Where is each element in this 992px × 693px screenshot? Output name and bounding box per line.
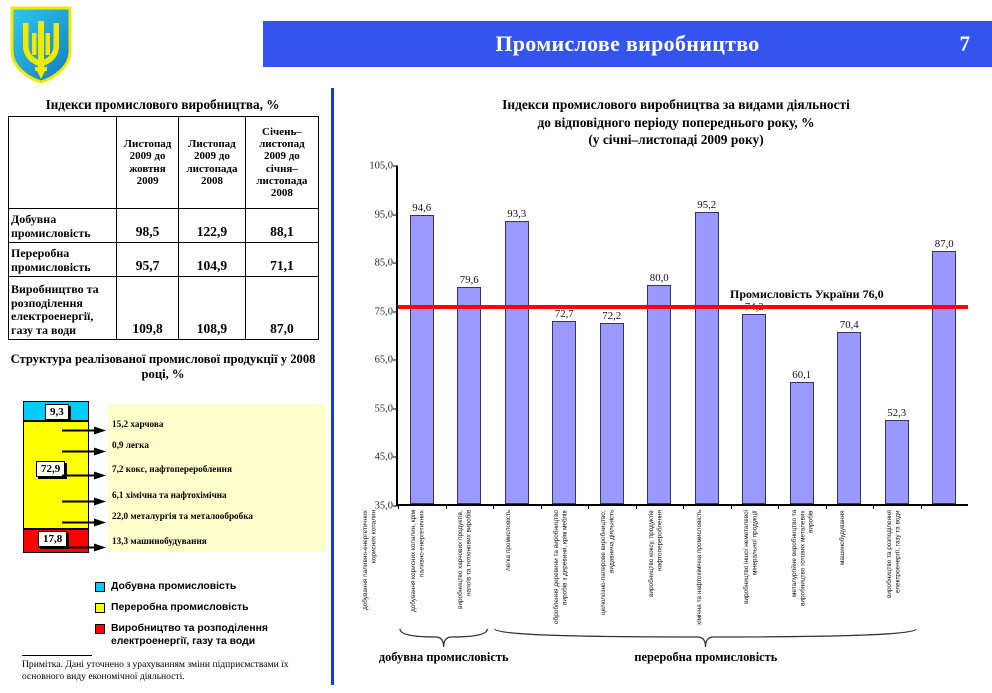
chart-title-line-3: (у січні–листопаді 2009 року) <box>360 131 992 149</box>
group-bracket-icon <box>399 628 488 650</box>
legend-label: Добувна промисловість <box>111 580 236 593</box>
y-axis-tick-label: 55,0 <box>375 403 393 414</box>
bar-slot: 79,6 <box>446 166 494 504</box>
slide-header-bar: Промислове виробництво 7 <box>263 21 992 67</box>
bar[interactable]: 72,2 <box>600 323 624 504</box>
bar-slot: 72,7 <box>541 166 589 504</box>
table-row: Добувна промисловість 98,5 122,9 88,1 <box>9 209 319 243</box>
bar[interactable]: 70,4 <box>837 332 861 504</box>
arrow-icon <box>62 493 106 502</box>
table-cell: 109,8 <box>117 277 179 340</box>
bar-value-label: 95,2 <box>697 199 716 211</box>
table-col-nov-to-oct: Листопад 2009 до жовтня 2009 <box>117 117 179 209</box>
y-axis-tick-label: 75,0 <box>375 306 393 317</box>
bar-value-label: 60,1 <box>792 369 811 381</box>
footnote: Примітка. Дані уточнено з урахуванням зм… <box>22 659 322 684</box>
structure-breakdown-item: 6,1 хімічна та нафтохімічна <box>112 490 227 500</box>
table-title: Індекси промислового виробництва, % <box>0 97 325 113</box>
bar-value-label: 87,0 <box>935 238 954 250</box>
arrow-icon <box>62 514 106 523</box>
table-cell: 87,0 <box>245 277 318 340</box>
stack-value-mining: 9,3 <box>45 404 69 420</box>
chart-title: Індекси промислового виробництва за вида… <box>360 96 992 149</box>
group-bracket-icon <box>494 628 917 650</box>
x-axis-tick-mark <box>446 504 447 509</box>
bar-value-label: 72,2 <box>602 310 621 322</box>
table-row: Переробна промисловість 95,7 104,9 71,1 <box>9 243 319 277</box>
ukraine-coat-of-arms-icon <box>8 5 74 85</box>
bar-slot: 60,1 <box>778 166 826 504</box>
legend-swatch-mining <box>95 582 105 592</box>
table-cell: 108,9 <box>179 277 246 340</box>
bar-value-label: 70,4 <box>840 319 859 331</box>
bar-slot: 70,4 <box>826 166 874 504</box>
x-axis-tick-mark <box>683 504 684 509</box>
bar-value-label: 79,6 <box>460 274 479 286</box>
table-header-row: Листопад 2009 до жовтня 2009 Листопад 20… <box>9 117 319 209</box>
structure-breakdown-item: 15,2 харчова <box>112 419 163 429</box>
table-cell: 122,9 <box>179 209 246 243</box>
arrow-icon <box>62 539 106 548</box>
bar[interactable]: 79,6 <box>457 287 481 504</box>
x-axis-tick-mark <box>921 504 922 509</box>
stack-value-manufacturing: 72,9 <box>36 461 65 477</box>
bar[interactable]: 60,1 <box>790 382 814 504</box>
x-axis-tick-mark <box>493 504 494 509</box>
arrow-icon <box>62 422 106 431</box>
chart-title-line-1: Індекси промислового виробництва за вида… <box>360 96 992 114</box>
table-cell: 98,5 <box>117 209 179 243</box>
bar-chart-plot-area: 105,095,085,075,065,055,045,035,0 94,679… <box>396 166 968 506</box>
industrial-indices-table: Листопад 2009 до жовтня 2009 Листопад 20… <box>8 116 319 340</box>
structure-title: Структура реалізованої промислової проду… <box>2 352 324 383</box>
table-row: Виробництво та розподілення електроенерг… <box>9 277 319 340</box>
structure-breakdown-item: 0,9 легка <box>112 440 149 450</box>
group-bracket-label: переробна промисловість <box>464 650 947 665</box>
legend-item: Виробництво та розподілення електроенерг… <box>95 622 325 648</box>
y-axis-tick-label: 85,0 <box>375 258 393 269</box>
y-axis-tick-label: 95,0 <box>375 209 393 220</box>
bar-slot: 87,0 <box>921 166 969 504</box>
structure-breakdown-item: 13,3 машинобудування <box>112 536 207 546</box>
x-axis-tick-mark <box>731 504 732 509</box>
x-axis-tick-mark <box>398 504 399 509</box>
bar-slot: 95,2 <box>683 166 731 504</box>
note-divider <box>22 655 92 656</box>
arrow-icon <box>62 443 106 452</box>
table-col-jan-nov: Січень–листопад 2009 до січня–листопада … <box>245 117 318 209</box>
bar[interactable]: 74,2 <box>742 314 766 504</box>
legend-label: Виробництво та розподілення електроенерг… <box>111 622 325 648</box>
arrow-icon <box>62 467 106 476</box>
table-cell: 104,9 <box>179 243 246 277</box>
y-axis-tick-label: 105,0 <box>369 161 393 172</box>
page-number: 7 <box>960 32 971 57</box>
x-axis-tick-mark <box>588 504 589 509</box>
legend-swatch-energy <box>95 624 105 634</box>
legend-item: Добувна промисловість <box>95 580 325 593</box>
table-row-label: Виробництво та розподілення електроенерг… <box>9 277 117 340</box>
structure-breakdown-item: 22,0 металургія та металообробка <box>112 511 253 521</box>
legend-swatch-manufacturing <box>95 603 105 613</box>
bar-value-label: 93,3 <box>507 208 526 220</box>
bar-value-label: 94,6 <box>412 202 431 214</box>
table-row-label: Переробна промисловість <box>9 243 117 277</box>
y-axis-tick-label: 45,0 <box>375 452 393 463</box>
bar-slot: 74,2 <box>731 166 779 504</box>
table-cell: 88,1 <box>245 209 318 243</box>
y-axis-tick-label: 65,0 <box>375 355 393 366</box>
bar-slot: 93,3 <box>493 166 541 504</box>
reference-line <box>398 305 968 309</box>
table-col-blank <box>9 117 117 209</box>
legend-label: Переробна промисловість <box>111 601 248 614</box>
x-axis-category-label: виробництво та розподілення електроенерг… <box>886 510 992 626</box>
bar-slot: 94,6 <box>398 166 446 504</box>
bar[interactable]: 72,7 <box>552 321 576 504</box>
bar-value-label: 72,7 <box>555 308 574 320</box>
table-cell: 71,1 <box>245 243 318 277</box>
bar[interactable]: 87,0 <box>932 251 956 504</box>
bar-series: 94,679,693,372,772,280,095,274,260,170,4… <box>398 166 968 504</box>
bar-slot: 72,2 <box>588 166 636 504</box>
bar[interactable]: 52,3 <box>885 420 909 504</box>
x-axis-tick-mark <box>636 504 637 509</box>
bar[interactable]: 80,0 <box>647 285 671 504</box>
bar[interactable]: 95,2 <box>695 212 719 504</box>
table-row-label: Добувна промисловість <box>9 209 117 243</box>
table-cell: 95,7 <box>117 243 179 277</box>
chart-title-line-2: до відповідного періоду попереднього рок… <box>360 114 992 132</box>
x-axis-tick-mark <box>778 504 779 509</box>
bar-slot: 80,0 <box>636 166 684 504</box>
structure-breakdown-item: 7,2 кокс, нафтоперероблення <box>112 464 232 474</box>
x-axis-tick-mark <box>826 504 827 509</box>
bar-slot: 52,3 <box>873 166 921 504</box>
reference-line-label: Промисловість України 76,0 <box>728 287 886 302</box>
x-axis-tick-mark <box>873 504 874 509</box>
x-axis-tick-mark <box>541 504 542 509</box>
bar[interactable]: 94,6 <box>410 215 434 504</box>
table-col-nov-to-nov: Листопад 2009 до листопада 2008 <box>179 117 246 209</box>
legend-item: Переробна промисловість <box>95 601 325 614</box>
page-title: Промислове виробництво <box>495 31 759 57</box>
bar-value-label: 80,0 <box>650 272 669 284</box>
structure-legend: Добувна промисловість Переробна промисло… <box>95 580 325 656</box>
bar-value-label: 52,3 <box>887 407 906 419</box>
bar[interactable]: 93,3 <box>505 221 529 504</box>
vertical-divider <box>331 88 334 685</box>
